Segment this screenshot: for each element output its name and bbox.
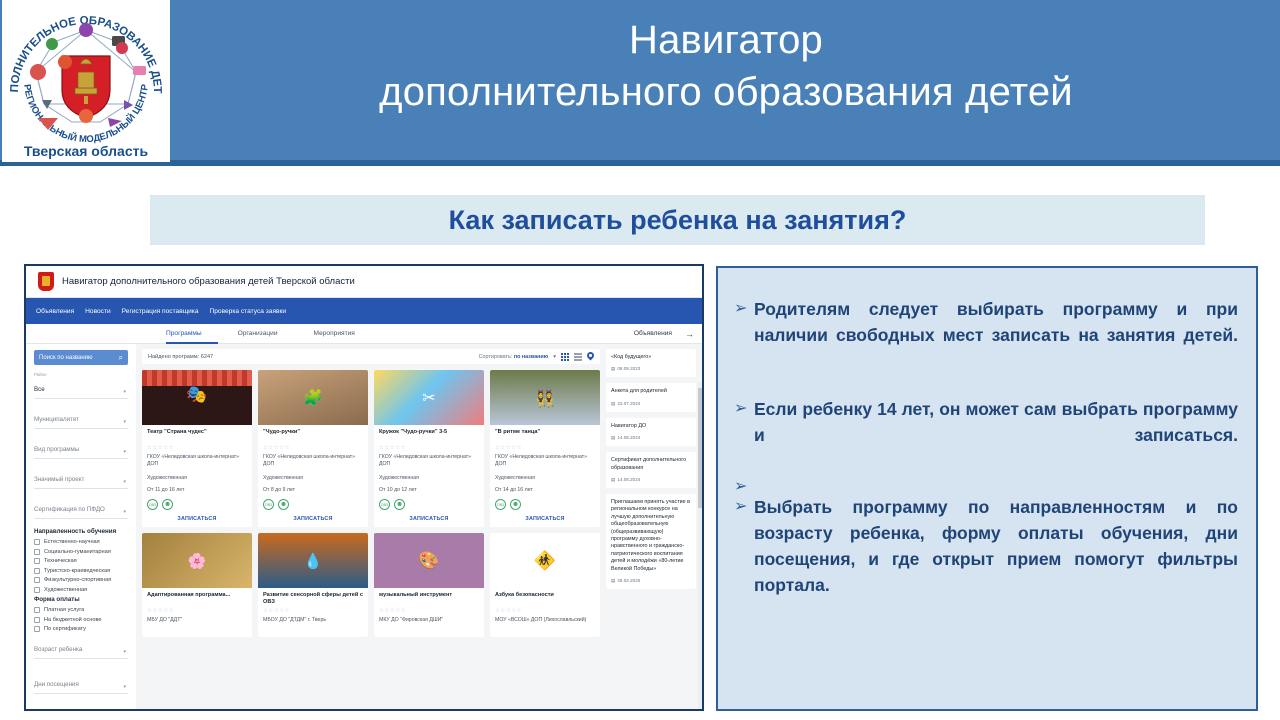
nav-item-provider-registration[interactable]: Регистрация поставщика — [122, 308, 199, 315]
checkbox-label: На бюджетной основе — [44, 617, 101, 623]
chevron-down-icon[interactable]: ▾ — [123, 649, 126, 655]
arrow-bullet-icon: ➢ — [732, 296, 754, 322]
checkbox-box[interactable] — [34, 577, 40, 583]
program-image — [374, 533, 484, 588]
program-card[interactable]: Азбука безопасности ☆☆☆☆☆ МОУ «ВСОШ» ДОП… — [490, 533, 600, 637]
program-image — [490, 370, 600, 425]
checkbox-direction-sport[interactable]: Физкультурно-спортивная — [34, 577, 128, 583]
enroll-button[interactable]: ЗАПИСАТЬСЯ — [263, 516, 363, 522]
program-card-body: Театр "Страна чудес" ☆☆☆☆☆ ГКОУ «Нелидов… — [142, 425, 252, 527]
program-card-body: Адаптированная программа... ☆☆☆☆☆ МБУ ДО… — [142, 588, 252, 637]
chevron-down-icon[interactable]: ▾ — [123, 419, 126, 425]
filter-significant-project[interactable]: Значимый проект ▾ — [34, 468, 128, 489]
program-card[interactable]: "Чудо-ручки" ☆☆☆☆☆ ГКОУ «Нелидовская шко… — [258, 370, 368, 527]
checkbox-label: Социально-гуманитарная — [44, 549, 111, 555]
program-title: Кружок "Чудо-ручки" 3-5 — [379, 429, 479, 443]
program-title: музыкальный инструмент — [379, 592, 479, 606]
announcement-item[interactable]: Навигатор ДО ▤14.08.2024 — [606, 418, 696, 446]
announcement-title: Сертификат дополнительного образования — [611, 457, 691, 472]
program-card-body: Азбука безопасности ☆☆☆☆☆ МОУ «ВСОШ» ДОП… — [490, 588, 600, 637]
portal-columns: Поиск по названию ⌕ Район Все ▾ Муниципа… — [26, 344, 702, 711]
nav-item-announcements[interactable]: Объявления — [36, 308, 74, 315]
announcement-item[interactable]: Сертификат дополнительного образования ▤… — [606, 452, 696, 488]
chevron-down-icon[interactable]: ▾ — [123, 479, 126, 485]
filter-municipality-label: Муниципалитет — [34, 416, 79, 423]
announcement-item[interactable]: Анкета для родителей ▤23.07.2024 — [606, 383, 696, 411]
search-icon[interactable]: ⌕ — [119, 353, 123, 363]
ovz-badge: ОВЗ — [495, 499, 506, 510]
filter-visit-days[interactable]: Дни посещения ▾ — [34, 673, 128, 694]
program-card[interactable]: Театр "Страна чудес" ☆☆☆☆☆ ГКОУ «Нелидов… — [142, 370, 252, 527]
program-age-range: От 11 до 16 лет — [147, 487, 247, 493]
rating-stars[interactable]: ☆☆☆☆☆ — [379, 608, 479, 614]
chevron-down-icon[interactable]: ▾ — [123, 449, 126, 455]
list-item-empty: ➢ — [732, 474, 1238, 492]
calendar-icon: ▤ — [611, 366, 615, 371]
checkbox-payment-certificate[interactable]: По сертификату — [34, 626, 128, 632]
calendar-icon: ▤ — [611, 477, 615, 482]
checkbox-label: Платная услуга — [44, 607, 84, 613]
list-item: ➢ Выбрать программу по направленностям и… — [732, 494, 1238, 624]
checkbox-label: По сертификату — [44, 626, 86, 632]
checkbox-box[interactable] — [34, 617, 40, 623]
rating-stars[interactable]: ☆☆☆☆☆ — [495, 445, 595, 451]
results-area: Найдено программ: 6247 Сортировать: по н… — [136, 344, 606, 711]
page-title: Навигатор дополнительного образования де… — [180, 14, 1272, 118]
checkbox-box[interactable] — [34, 539, 40, 545]
program-organization: МБУ ДО "ДДТ" — [147, 617, 247, 632]
chevron-down-icon[interactable]: ▾ — [553, 354, 556, 360]
program-badges: ОВЗ ☻ — [495, 499, 595, 510]
announcement-item[interactable]: Приглашаем принять участие в регионально… — [606, 494, 696, 589]
program-direction: Художественная — [263, 475, 363, 481]
grid-view-icon[interactable] — [561, 353, 569, 361]
rating-stars[interactable]: ☆☆☆☆☆ — [263, 608, 363, 614]
filter-significant-project-label: Значимый проект — [34, 476, 84, 483]
bullet-text: Если ребенку 14 лет, он может сам выбрат… — [754, 396, 1238, 474]
checkbox-direction-tourism[interactable]: Туристско-краеведческая — [34, 568, 128, 574]
checkbox-label: Естественно-научная — [44, 539, 100, 545]
announcement-date: ▤14.08.2024 — [611, 477, 691, 483]
map-pin-icon[interactable] — [587, 352, 594, 361]
nav-item-application-status[interactable]: Проверка статуса заявки — [210, 308, 287, 315]
announcement-item[interactable]: «Код будущего» ▤08.09.2023 — [606, 349, 696, 377]
announcements-link[interactable]: Объявления — [634, 330, 672, 337]
program-cards-grid: Театр "Страна чудес" ☆☆☆☆☆ ГКОУ «Нелидов… — [142, 370, 600, 637]
toolbar-controls: Сортировать: по названию ▾ — [479, 352, 594, 361]
program-title: "Чудо-ручки" — [263, 429, 363, 443]
calendar-icon: ▤ — [611, 401, 615, 406]
program-age-range: От 8 до 9 лет — [263, 487, 363, 493]
program-card-body: "В ритме танца" ☆☆☆☆☆ ГКОУ «Нелидовская … — [490, 425, 600, 527]
filter-program-type[interactable]: Вид программы ▾ — [34, 438, 128, 459]
person-icon: ☻ — [394, 499, 405, 510]
program-card-body: музыкальный инструмент ☆☆☆☆☆ МКУ ДО "Фир… — [374, 588, 484, 637]
program-card-body: Развитие сенсорной сферы детей с ОВЗ ☆☆☆… — [258, 588, 368, 637]
program-organization: МКУ ДО "Фировская ДШИ" — [379, 617, 479, 632]
program-badges: ОВЗ ☻ — [263, 499, 363, 510]
instructions-panel: ➢ Родителям следует выбирать программу и… — [716, 266, 1258, 711]
rating-stars[interactable]: ☆☆☆☆☆ — [147, 445, 247, 451]
program-direction: Художественная — [379, 475, 479, 481]
program-organization: ГКОУ «Нелидовская школа-интернат» ДОП — [147, 454, 247, 469]
announcement-date: ▤08.09.2023 — [611, 366, 691, 372]
program-image — [142, 370, 252, 425]
checkbox-box[interactable] — [34, 549, 40, 555]
program-card[interactable]: Кружок "Чудо-ручки" 3-5 ☆☆☆☆☆ ГКОУ «Нели… — [374, 370, 484, 527]
portal-tabs: Программы Организации Мероприятия Объявл… — [26, 324, 702, 344]
program-title: Развитие сенсорной сферы детей с ОВЗ — [263, 592, 363, 606]
filter-pfdo-certification[interactable]: Сертификация по ПФДО ▾ — [34, 498, 128, 519]
program-card-body: Кружок "Чудо-ручки" 3-5 ☆☆☆☆☆ ГКОУ «Нели… — [374, 425, 484, 527]
bullet-text: Выбрать программу по направленностям и п… — [754, 494, 1238, 624]
program-direction: Художественная — [495, 475, 595, 481]
announcement-date: ▤23.07.2024 — [611, 401, 691, 407]
nav-item-news[interactable]: Новости — [85, 308, 111, 315]
program-card[interactable]: "В ритме танца" ☆☆☆☆☆ ГКОУ «Нелидовская … — [490, 370, 600, 527]
checkbox-box[interactable] — [34, 626, 40, 632]
chevron-down-icon[interactable]: ▾ — [123, 684, 126, 690]
sort-value: по названию — [514, 354, 548, 360]
title-line-2: дополнительного образования детей — [180, 66, 1272, 118]
program-organization: ГКОУ «Нелидовская школа-интернат» ДОП — [263, 454, 363, 469]
program-image — [258, 370, 368, 425]
portal-topbar: Навигатор дополнительного образования де… — [26, 266, 702, 298]
program-organization: ГКОУ «Нелидовская школа-интернат» ДОП — [495, 454, 595, 469]
program-title: "В ритме танца" — [495, 429, 595, 443]
program-organization: ГКОУ «Нелидовская школа-интернат» ДОП — [379, 454, 479, 469]
program-organization: МБОУ ДО "ДТДМ" г. Тверь — [263, 617, 363, 632]
search-input[interactable]: Поиск по названию ⌕ — [34, 350, 128, 365]
arrow-right-icon[interactable]: → — [685, 329, 694, 339]
program-card[interactable]: Развитие сенсорной сферы детей с ОВЗ ☆☆☆… — [258, 533, 368, 637]
filter-municipality[interactable]: Муниципалитет ▾ — [34, 408, 128, 429]
results-toolbar: Найдено программ: 6247 Сортировать: по н… — [142, 349, 600, 364]
sort-control[interactable]: Сортировать: по названию — [479, 354, 549, 360]
ovz-badge: ОВЗ — [147, 499, 158, 510]
filters-sidebar: Поиск по названию ⌕ Район Все ▾ Муниципа… — [26, 344, 136, 711]
rating-stars[interactable]: ☆☆☆☆☆ — [495, 608, 595, 614]
list-view-icon[interactable] — [574, 353, 582, 361]
title-line-1: Навигатор — [180, 14, 1272, 66]
enroll-button[interactable]: ЗАПИСАТЬСЯ — [147, 516, 247, 522]
filter-district-value: Все — [34, 386, 45, 393]
program-image — [490, 533, 600, 588]
arrow-bullet-icon: ➢ — [732, 494, 754, 520]
checkbox-label: Техническая — [44, 558, 77, 564]
program-image — [258, 533, 368, 588]
announcement-date-value: 08.09.2023 — [617, 366, 640, 371]
program-image — [374, 370, 484, 425]
person-icon: ☻ — [162, 499, 173, 510]
announcement-date-value: 14.08.2024 — [617, 435, 640, 440]
program-direction: Художественная — [147, 475, 247, 481]
portal-navbar: Объявления Новости Регистрация поставщик… — [26, 298, 702, 324]
program-card[interactable]: Адаптированная программа... ☆☆☆☆☆ МБУ ДО… — [142, 533, 252, 637]
filter-program-type-label: Вид программы — [34, 446, 79, 453]
program-organization: МОУ «ВСОШ» ДОП (Лихославльский) — [495, 617, 595, 632]
program-badges: ОВЗ ☻ — [379, 499, 479, 510]
program-badges: ОВЗ ☻ — [147, 499, 247, 510]
portal-site-title: Навигатор дополнительного образования де… — [62, 276, 355, 287]
chevron-down-icon[interactable]: ▾ — [123, 389, 126, 395]
program-age-range: От 10 до 12 лет — [379, 487, 479, 493]
filter-group-payment-title: Форма оплаты — [34, 596, 128, 603]
coat-of-arms-icon — [38, 272, 54, 291]
enroll-button[interactable]: ЗАПИСАТЬСЯ — [495, 516, 595, 522]
checkbox-payment-paid[interactable]: Платная услуга — [34, 607, 128, 613]
enroll-button[interactable]: ЗАПИСАТЬСЯ — [379, 516, 479, 522]
rating-stars[interactable]: ☆☆☆☆☆ — [147, 608, 247, 614]
search-placeholder: Поиск по названию — [39, 355, 93, 361]
list-item: ➢ Если ребенку 14 лет, он может сам выбр… — [732, 396, 1238, 474]
filter-district-label: Район — [34, 372, 128, 378]
filter-child-age[interactable]: Возраст ребенка ▾ — [34, 638, 128, 659]
tab-programs[interactable]: Программы — [166, 330, 202, 337]
checkbox-box[interactable] — [34, 568, 40, 574]
program-age-range: От 14 до 16 лет — [495, 487, 595, 493]
checkbox-label: Художественная — [44, 587, 87, 593]
announcement-title: Навигатор ДО — [611, 423, 691, 430]
portal-screenshot: Навигатор дополнительного образования де… — [24, 264, 704, 711]
bullet-text: Родителям следует выбирать программу и п… — [754, 296, 1238, 374]
list-item: ➢ Родителям следует выбирать программу и… — [732, 296, 1238, 374]
header-underline — [0, 160, 1280, 166]
checkbox-box[interactable] — [34, 607, 40, 613]
portal-body: Программы Организации Мероприятия Объявл… — [26, 324, 702, 711]
tab-events[interactable]: Мероприятия — [314, 330, 355, 337]
checkbox-box[interactable] — [34, 587, 40, 593]
logo-caption: Тверская область — [2, 143, 170, 159]
calendar-icon: ▤ — [611, 578, 615, 583]
announcement-date-value: 28.02.2025 — [617, 578, 640, 583]
checkbox-label: Туристско-краеведческая — [44, 568, 110, 574]
announcement-title: Приглашаем принять участие в регионально… — [611, 499, 691, 573]
program-title: Театр "Страна чудес" — [147, 429, 247, 443]
rating-stars[interactable]: ☆☆☆☆☆ — [379, 445, 479, 451]
program-title: Азбука безопасности — [495, 592, 595, 606]
ovz-badge: ОВЗ — [263, 499, 274, 510]
ovz-badge: ОВЗ — [379, 499, 390, 510]
portal-scrollbar[interactable] — [698, 382, 702, 711]
checkbox-box[interactable] — [34, 558, 40, 564]
announcement-date-value: 14.08.2024 — [617, 477, 640, 482]
checkbox-direction-technical[interactable]: Техническая — [34, 558, 128, 564]
filter-group-direction-title: Направленность обучения — [34, 528, 128, 535]
checkbox-label: Физкультурно-спортивная — [44, 577, 111, 583]
person-icon: ☻ — [510, 499, 521, 510]
checkbox-direction-art[interactable]: Художественная — [34, 587, 128, 593]
program-image — [142, 533, 252, 588]
filter-child-age-label: Возраст ребенка — [34, 646, 82, 653]
scrollbar-thumb[interactable] — [698, 388, 702, 508]
regional-model-center-logo: ДОПОЛНИТЕЛЬНОЕ ОБРАЗОВАНИЕ ДЕТЕЙ РЕГИОНА… — [2, 0, 170, 162]
checkbox-direction-social-humanitarian[interactable]: Социально-гуманитарная — [34, 549, 128, 555]
results-count: Найдено программ: 6247 — [148, 354, 213, 360]
person-icon: ☻ — [278, 499, 289, 510]
logo-box: ДОПОЛНИТЕЛЬНОЕ ОБРАЗОВАНИЕ ДЕТЕЙ РЕГИОНА… — [2, 0, 170, 162]
announcement-date: ▤28.02.2025 — [611, 578, 691, 584]
bullet-list: ➢ Родителям следует выбирать программу и… — [718, 268, 1256, 624]
subtitle-banner: Как записать ребенка на занятия? — [150, 195, 1205, 245]
program-card-body: "Чудо-ручки" ☆☆☆☆☆ ГКОУ «Нелидовская шко… — [258, 425, 368, 527]
checkbox-direction-natural-science[interactable]: Естественно-научная — [34, 539, 128, 545]
subtitle-text: Как записать ребенка на занятия? — [449, 205, 907, 236]
program-card[interactable]: музыкальный инструмент ☆☆☆☆☆ МКУ ДО "Фир… — [374, 533, 484, 637]
sort-prefix: Сортировать: — [479, 354, 513, 360]
filter-visit-days-label: Дни посещения — [34, 681, 79, 688]
checkbox-payment-budget[interactable]: На бюджетной основе — [34, 617, 128, 623]
chevron-down-icon[interactable]: ▾ — [123, 509, 126, 515]
program-title: Адаптированная программа... — [147, 592, 247, 606]
rating-stars[interactable]: ☆☆☆☆☆ — [263, 445, 363, 451]
calendar-icon: ▤ — [611, 435, 615, 440]
filter-pfdo-certification-label: Сертификация по ПФДО — [34, 506, 105, 513]
announcement-date: ▤14.08.2024 — [611, 435, 691, 441]
tab-organizations[interactable]: Организации — [238, 330, 278, 337]
arrow-bullet-icon: ➢ — [732, 396, 754, 422]
announcement-date-value: 23.07.2024 — [617, 401, 640, 406]
announcements-column: «Код будущего» ▤08.09.2023 Анкета для ро… — [606, 344, 702, 711]
filter-district[interactable]: Район Все ▾ — [34, 372, 128, 399]
announcement-title: Анкета для родителей — [611, 388, 691, 395]
announcement-title: «Код будущего» — [611, 354, 691, 361]
slide-root: ДОПОЛНИТЕЛЬНОЕ ОБРАЗОВАНИЕ ДЕТЕЙ РЕГИОНА… — [0, 0, 1280, 720]
